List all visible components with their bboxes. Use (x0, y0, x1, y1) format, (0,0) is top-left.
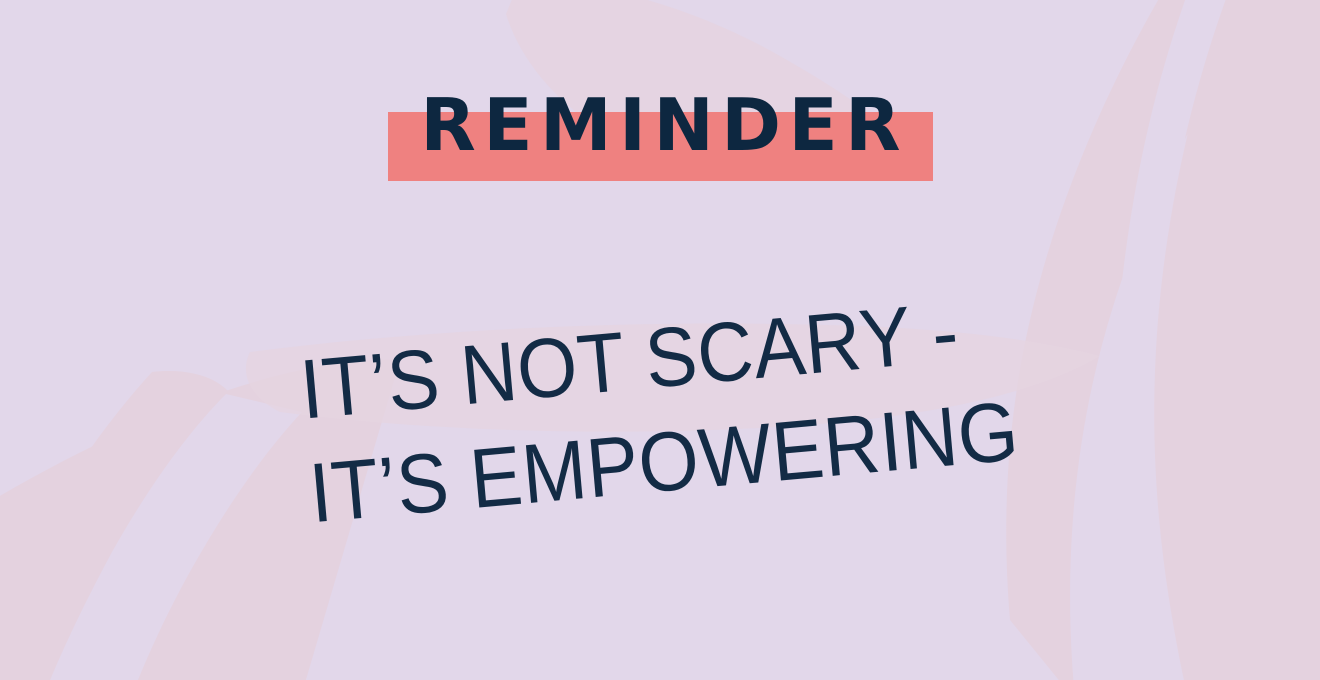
reminder-badge: REMINDER (388, 96, 933, 182)
brush-stroke-left-taper (0, 371, 232, 680)
brush-stroke-right-sliver (1114, 0, 1236, 680)
poster-canvas: REMINDER IT’S NOT SCARY - IT’S EMPOWERIN… (0, 0, 1320, 680)
brush-stroke-left-sliver (42, 394, 302, 680)
brush-stroke-right-edge (1154, 0, 1320, 680)
headline: IT’S NOT SCARY - IT’S EMPOWERING (296, 270, 1071, 545)
reminder-label: REMINDER (388, 96, 933, 154)
